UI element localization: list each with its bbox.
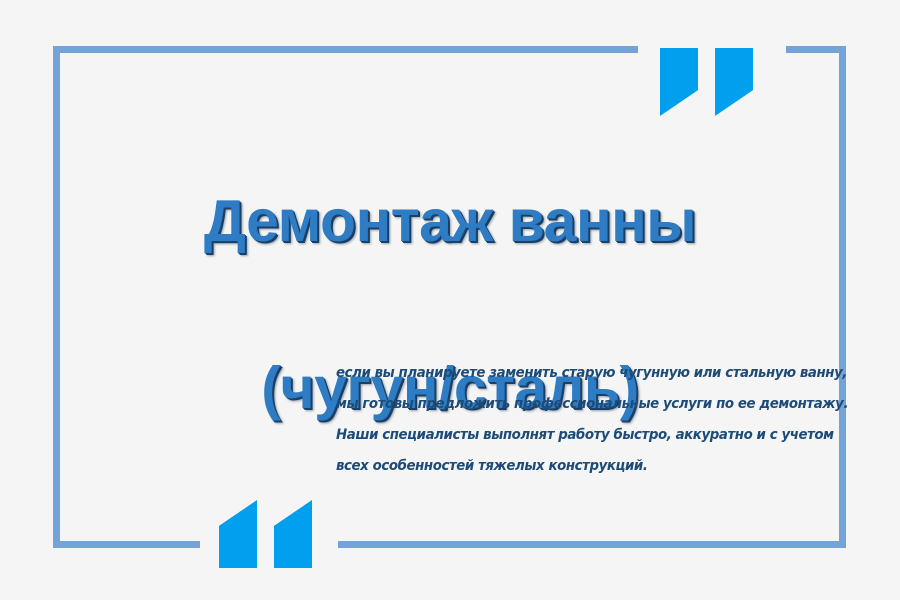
body-paragraph-line-4: всех особенностей тяжелых конструкций. — [336, 451, 768, 482]
frame-border-bottom-left-segment — [53, 541, 200, 548]
frame-border-left — [53, 46, 60, 548]
body-paragraph-line-2: мы готовы предложить профессиональные ус… — [336, 389, 768, 420]
frame-border-right — [839, 46, 846, 548]
page-title-line-1: Демонтаж ванны — [60, 180, 840, 264]
body-paragraph-line-3: Наши специалисты выполнят работу быстро,… — [336, 420, 768, 451]
frame-border-top-left-segment — [53, 46, 638, 53]
body-paragraph-line-1: если вы планируете заменить старую чугун… — [336, 358, 768, 389]
slide-canvas: Демонтаж ванны (чугун/сталь) если вы пла… — [0, 0, 900, 600]
body-paragraph: если вы планируете заменить старую чугун… — [336, 358, 768, 482]
frame-border-bottom-right-segment — [338, 541, 846, 548]
frame-border-top-right-segment — [786, 46, 846, 53]
